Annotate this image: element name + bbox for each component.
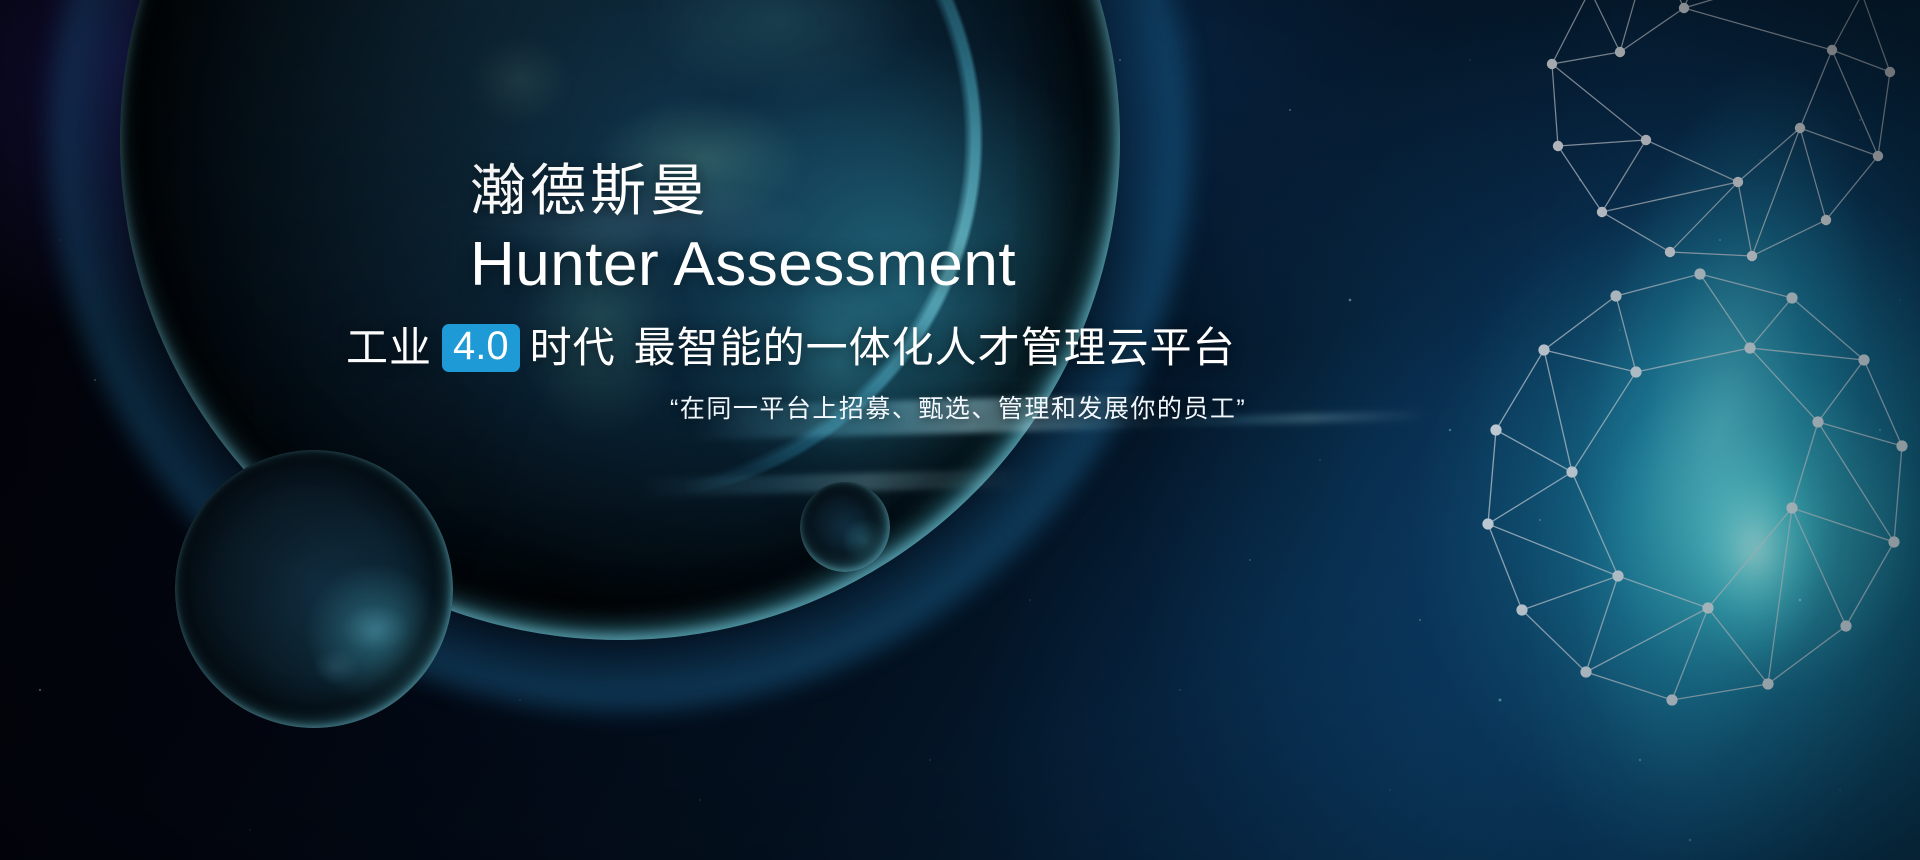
tagline-suffix: 最智能的一体化人才管理云平台 [634, 323, 1236, 373]
hero-banner: 瀚德斯曼 Hunter Assessment 工业 4.0 时代 最智能的一体化… [0, 0, 1920, 860]
tagline-middle: 时代 [530, 323, 616, 373]
hero-copy: 瀚德斯曼 Hunter Assessment 工业 4.0 时代 最智能的一体化… [470, 160, 1470, 426]
moon-sphere-large [175, 450, 453, 728]
nebula-glow [1640, 400, 1870, 700]
tagline-prefix: 工业 [346, 323, 432, 373]
brand-title-en: Hunter Assessment [470, 229, 1470, 301]
hero-subtitle: “在同一平台上招募、甄选、管理和发展你的员工” [670, 393, 1470, 426]
brand-title-cn: 瀚德斯曼 [470, 160, 1470, 223]
moon-sphere-small [800, 482, 890, 572]
industry-version-badge: 4.0 [442, 324, 520, 372]
hero-tagline: 工业 4.0 时代 最智能的一体化人才管理云平台 [346, 323, 1470, 373]
